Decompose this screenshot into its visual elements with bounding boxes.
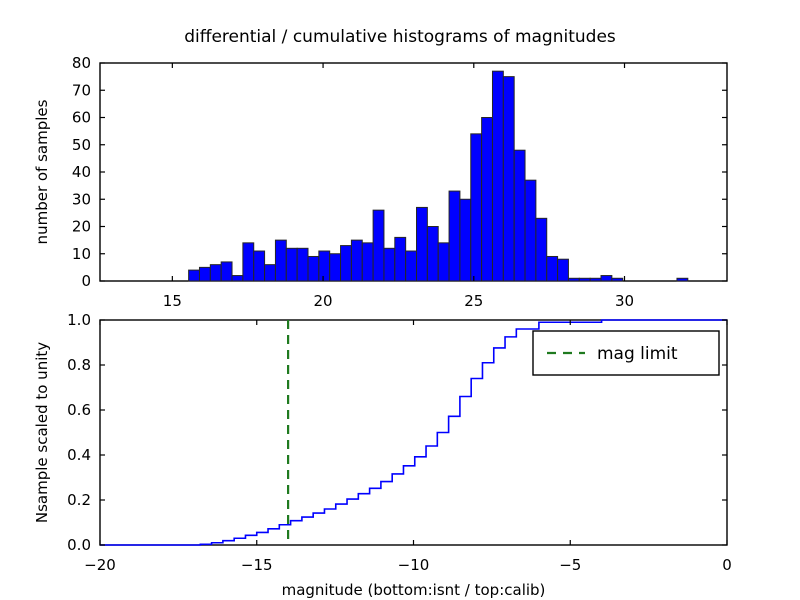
- histogram-bar: [243, 243, 254, 281]
- top-x-ticklabel: 15: [163, 292, 182, 310]
- histogram-bar: [308, 256, 319, 281]
- histogram-bar: [210, 265, 221, 281]
- histogram-bar: [341, 246, 352, 281]
- bottom-y-ticklabel: 0.8: [67, 356, 91, 374]
- bottom-x-ticklabel: −10: [398, 556, 430, 574]
- bottom-x-ticklabel: −5: [559, 556, 581, 574]
- top-y-ticklabel: 30: [72, 190, 91, 208]
- chart-svg: 1520253001020304050607080number of sampl…: [0, 0, 800, 600]
- bottom-y-ticklabel: 1.0: [67, 311, 91, 329]
- histogram-bar: [189, 270, 200, 281]
- histogram-bar: [590, 278, 601, 281]
- top-y-ticklabel: 60: [72, 109, 91, 127]
- bottom-x-axis-label: magnitude (bottom:isnt / top:calib): [282, 581, 546, 599]
- top-y-axis-label: number of samples: [33, 99, 51, 244]
- bottom-y-ticklabel: 0.6: [67, 401, 91, 419]
- top-x-ticklabel: 20: [314, 292, 333, 310]
- histogram-bar: [558, 259, 569, 281]
- histogram-bar: [677, 278, 688, 281]
- histogram-bar: [265, 265, 276, 281]
- top-plot-frame: [100, 63, 727, 281]
- histogram-bar: [330, 254, 341, 281]
- histogram-bar: [395, 237, 406, 281]
- histogram-bar: [525, 180, 536, 281]
- bottom-y-ticklabel: 0.2: [67, 491, 91, 509]
- histogram-bar: [275, 240, 286, 281]
- histogram-bar: [297, 248, 308, 281]
- top-y-ticklabel: 50: [72, 136, 91, 154]
- top-y-ticklabel: 40: [72, 163, 91, 181]
- bottom-y-ticklabel: 0.0: [67, 536, 91, 554]
- histogram-bar: [449, 191, 460, 281]
- top-y-ticklabel: 20: [72, 218, 91, 236]
- bottom-cumulative-panel: −20−15−10−500.00.20.40.60.81.0magnitude …: [33, 311, 732, 599]
- histogram-bar: [471, 134, 482, 281]
- histogram-bar: [568, 278, 579, 281]
- histogram-bar: [514, 150, 525, 281]
- legend-label-mag-limit: mag limit: [597, 344, 678, 364]
- histogram-bar: [232, 276, 243, 281]
- histogram-bar: [221, 262, 232, 281]
- histogram-bar: [319, 251, 330, 281]
- bottom-x-ticklabel: 0: [722, 556, 732, 574]
- histogram-bar: [351, 240, 362, 281]
- bottom-y-axis-label: Nsample scaled to unity: [33, 342, 51, 523]
- histogram-bar: [482, 118, 493, 282]
- histogram-bar: [286, 248, 297, 281]
- histogram-bar: [579, 278, 590, 281]
- histogram-bar: [612, 278, 623, 281]
- legend: mag limit: [533, 331, 719, 375]
- top-y-ticklabel: 80: [72, 54, 91, 72]
- histogram-bar: [503, 77, 514, 281]
- top-x-ticklabel: 30: [615, 292, 634, 310]
- top-y-ticklabel: 0: [81, 272, 91, 290]
- histogram-bar: [254, 251, 265, 281]
- top-y-ticklabel: 10: [72, 245, 91, 263]
- histogram-bar: [438, 243, 449, 281]
- top-histogram-panel: 1520253001020304050607080number of sampl…: [33, 54, 727, 310]
- bottom-x-ticklabel: −20: [84, 556, 116, 574]
- histogram-bar: [427, 227, 438, 282]
- histogram-bar: [384, 248, 395, 281]
- histogram-bar: [536, 218, 547, 281]
- histogram-bar: [601, 276, 612, 281]
- histogram-bar: [547, 256, 558, 281]
- histogram-bar: [417, 207, 428, 281]
- histogram-bar: [199, 267, 210, 281]
- histogram-bar: [492, 71, 503, 281]
- histogram-bar: [406, 251, 417, 281]
- histogram-bar: [460, 199, 471, 281]
- top-x-ticklabel: 25: [464, 292, 483, 310]
- figure-canvas: differential / cumulative histograms of …: [0, 0, 800, 600]
- top-y-ticklabel: 70: [72, 81, 91, 99]
- bottom-x-ticklabel: −15: [241, 556, 273, 574]
- bottom-y-ticklabel: 0.4: [67, 446, 91, 464]
- histogram-bar: [373, 210, 384, 281]
- histogram-bar: [362, 243, 373, 281]
